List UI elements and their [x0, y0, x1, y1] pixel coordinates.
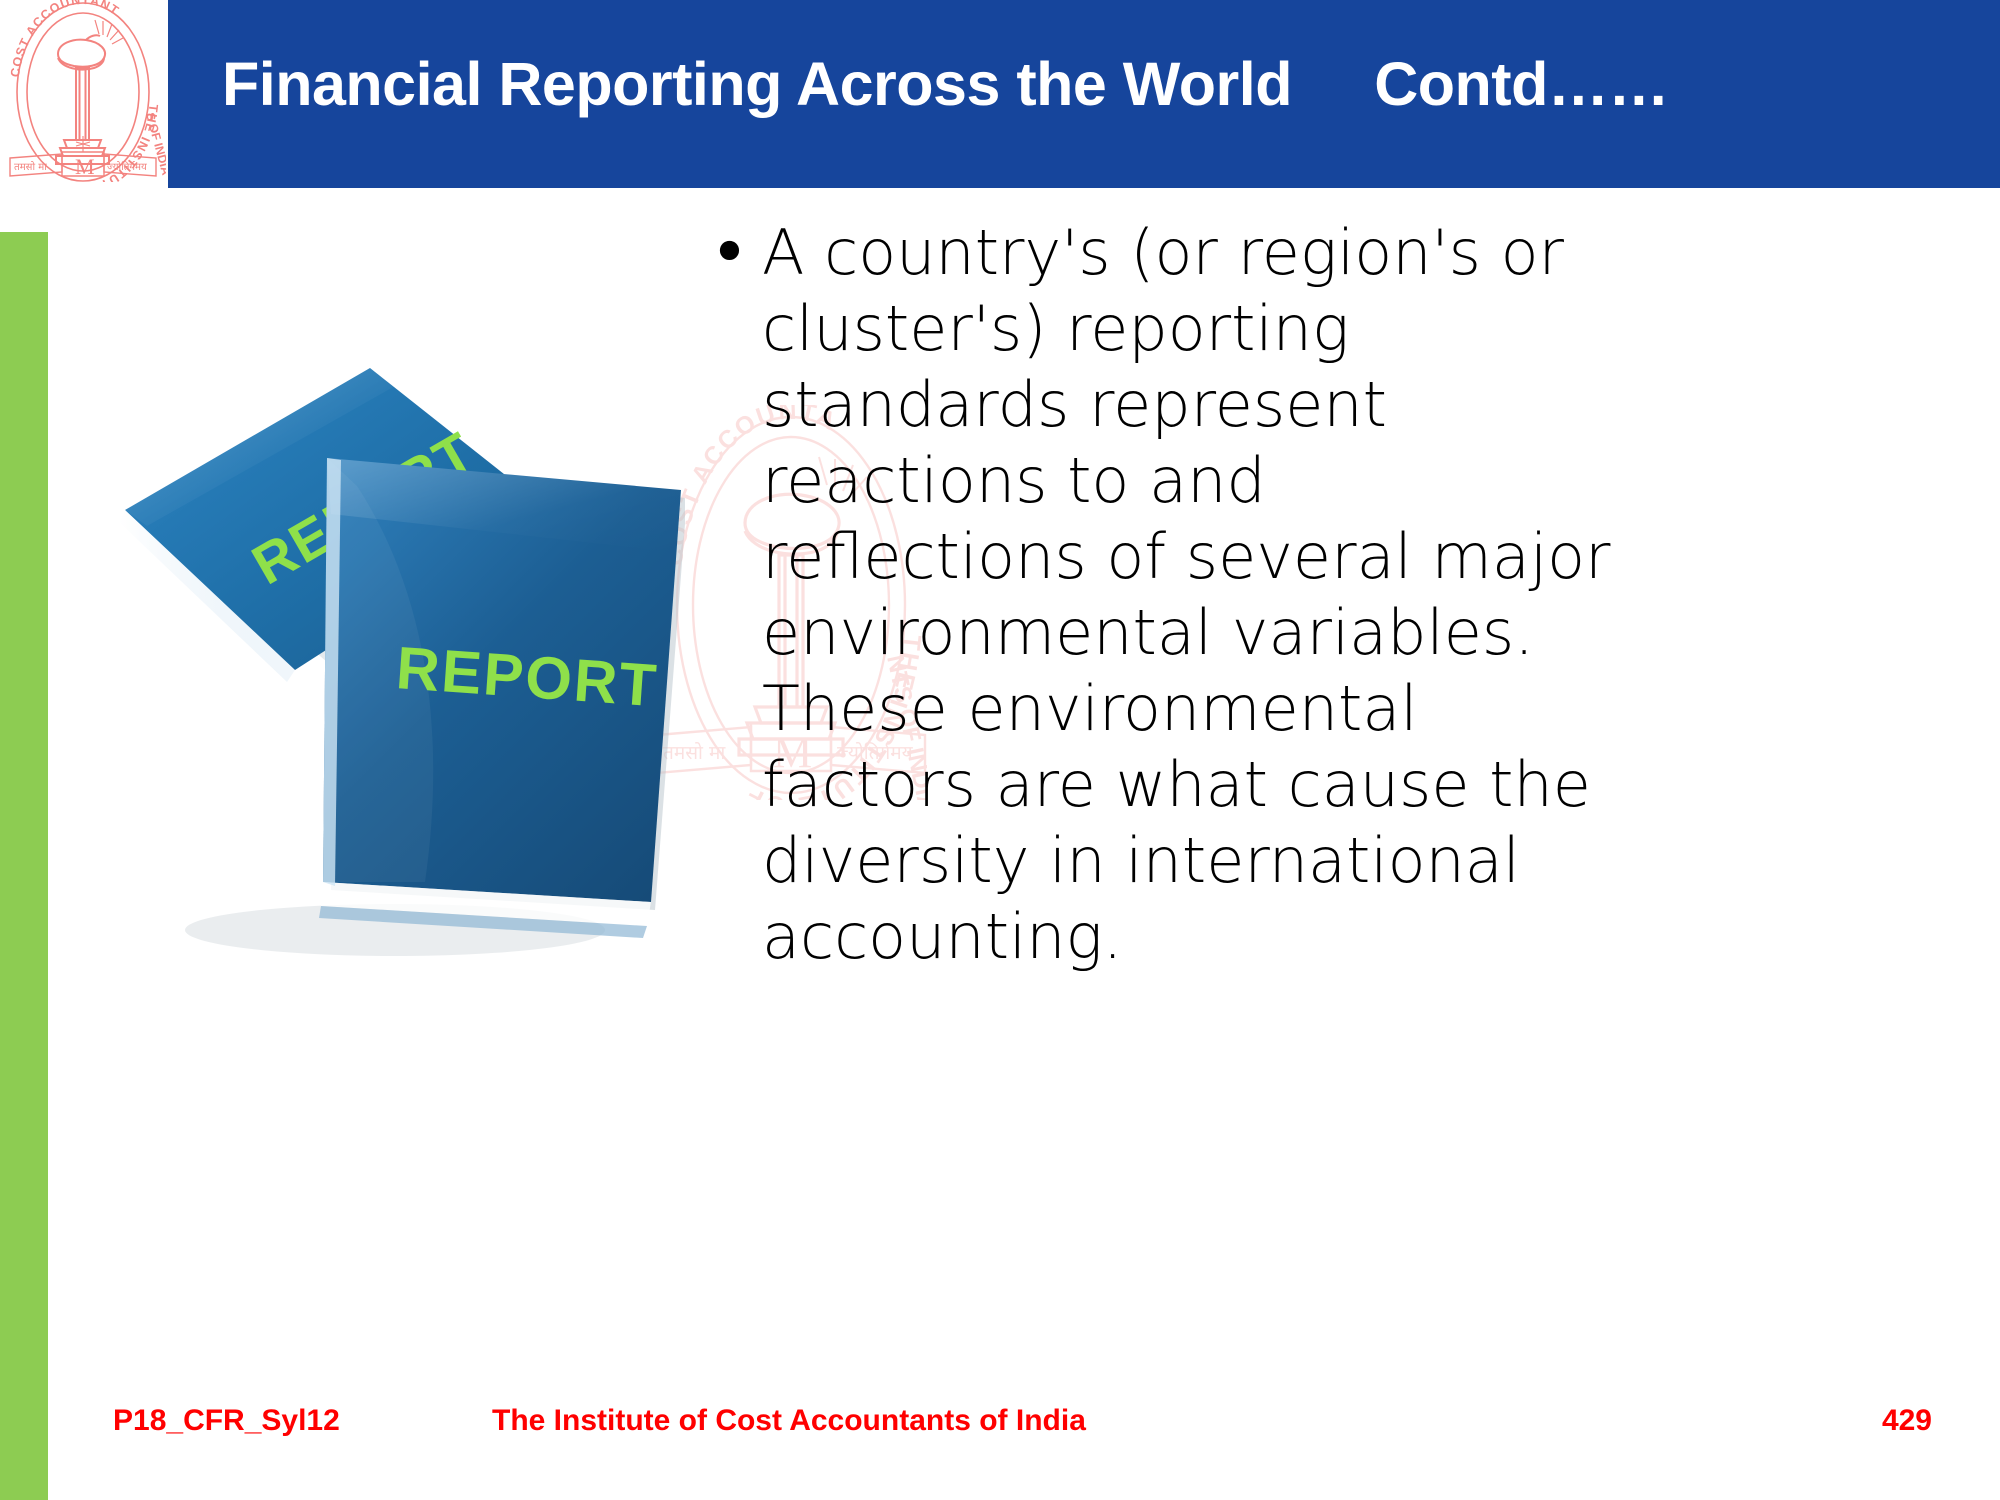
footer-page-number: 429	[1430, 1404, 1932, 1438]
icai-logo: COST ACCOUNTANT THE INSTITUTE OF S OF IN…	[0, 0, 166, 182]
accent-stripe	[0, 232, 48, 1500]
svg-text:तमसो मा: तमसो मा	[14, 161, 47, 173]
bullet-marker-icon: •	[700, 215, 762, 291]
slide-canvas: Financial Reporting Across the World Con…	[0, 0, 2000, 1500]
svg-text:M: M	[75, 154, 95, 179]
svg-text:ज्योतिर्गमय: ज्योतिर्गमय	[107, 161, 147, 173]
bullet-item-text: A country's (or region's or cluster's) r…	[762, 215, 1990, 975]
footer-paper-code: P18_CFR_Syl12	[113, 1404, 340, 1438]
content-body: • A country's (or region's or cluster's)…	[700, 215, 1990, 975]
footer-institute-name: The Institute of Cost Accountants of Ind…	[492, 1404, 1086, 1438]
report-books-image: REPORT REPORT	[95, 290, 685, 970]
bullet-item: • A country's (or region's or cluster's)…	[700, 215, 1990, 975]
page-title: Financial Reporting Across the World Con…	[222, 54, 1992, 115]
